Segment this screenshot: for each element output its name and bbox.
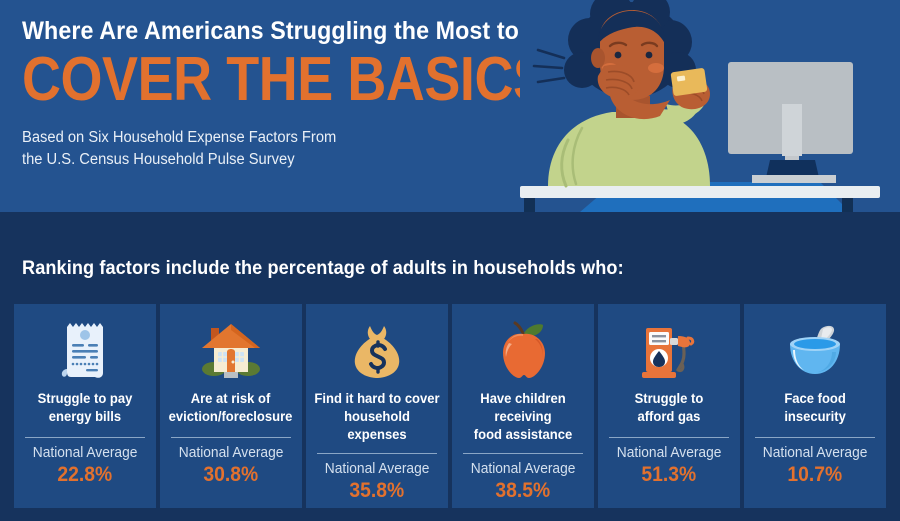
- national-average-value: 10.7%: [788, 463, 843, 487]
- national-average-label: National Average: [471, 461, 576, 477]
- factor-card-afford-gas[interactable]: Struggle to afford gas National Average …: [598, 304, 740, 508]
- card-divider: [609, 437, 728, 438]
- factor-card-label: Find it hard to cover household expenses: [311, 390, 443, 444]
- factor-card-label: Struggle to afford gas: [632, 390, 706, 428]
- factor-label-line2: energy bills: [49, 408, 121, 424]
- factor-label-line1: Have children receiving: [480, 390, 565, 424]
- card-divider: [317, 453, 436, 454]
- house-icon: [160, 314, 302, 388]
- factor-label-line1: Find it hard to cover: [314, 390, 439, 406]
- national-average-value: 51.3%: [642, 463, 697, 487]
- factor-label-line1: Are at risk of: [191, 390, 271, 406]
- factor-label-line1: Struggle to: [635, 390, 704, 406]
- factor-card-household-expenses[interactable]: Find it hard to cover household expenses…: [306, 304, 448, 508]
- infographic-root: Where Are Americans Struggling the Most …: [0, 0, 900, 521]
- card-divider: [25, 437, 144, 438]
- bowl-icon: [744, 314, 886, 388]
- factor-card-label: Struggle to pay energy bills: [35, 390, 135, 428]
- card-divider: [463, 453, 582, 454]
- page-subtitle-line1: Based on Six Household Expense Factors F…: [22, 127, 526, 149]
- page-subtitle-line2: the U.S. Census Household Pulse Survey: [22, 149, 526, 171]
- factor-label-line2: eviction/foreclosure: [169, 408, 293, 424]
- factor-card-label: Face food insecurity: [781, 390, 848, 428]
- factor-label-line1: Struggle to pay: [38, 390, 133, 406]
- national-average-label: National Average: [617, 445, 722, 461]
- national-average-value: 22.8%: [58, 463, 113, 487]
- factor-card-energy-bills[interactable]: Struggle to pay energy bills National Av…: [14, 304, 156, 508]
- factor-card-food-insecurity[interactable]: Face food insecurity National Average 10…: [744, 304, 886, 508]
- money-bag-icon: [306, 314, 448, 388]
- national-average-label: National Average: [763, 445, 868, 461]
- page-title-line2: COVER THE BASICS?: [22, 50, 483, 110]
- factor-label-line2: household expenses: [344, 408, 410, 442]
- page-title-line1: Where Are Americans Struggling the Most …: [22, 18, 515, 46]
- factor-label-line2: afford gas: [638, 408, 701, 424]
- card-divider: [755, 437, 874, 438]
- ranking-factors-heading: Ranking factors include the percentage o…: [22, 257, 624, 280]
- national-average-label: National Average: [33, 445, 138, 461]
- lower-section: Ranking factors include the percentage o…: [0, 212, 900, 521]
- national-average-label: National Average: [179, 445, 284, 461]
- factor-card-eviction-foreclosure[interactable]: Are at risk of eviction/foreclosure Nati…: [160, 304, 302, 508]
- factor-label-line2: insecurity: [784, 408, 846, 424]
- factor-card-child-food-assistance[interactable]: Have children receiving food assistance …: [452, 304, 594, 508]
- factor-card-label: Have children receiving food assistance: [457, 390, 589, 444]
- page-subtitle: Based on Six Household Expense Factors F…: [22, 127, 526, 172]
- apple-icon: [452, 314, 594, 388]
- header-text-block: Where Are Americans Struggling the Most …: [22, 18, 552, 172]
- national-average-value: 38.5%: [496, 479, 551, 503]
- receipt-icon: [14, 314, 156, 388]
- factor-label-line1: Face food: [784, 390, 845, 406]
- national-average-value: 35.8%: [350, 479, 405, 503]
- factor-label-line2: food assistance: [474, 426, 572, 442]
- gas-pump-icon: [598, 314, 740, 388]
- factor-card-label: Are at risk of eviction/foreclosure: [166, 390, 295, 428]
- factor-cards-row: Struggle to pay energy bills National Av…: [14, 304, 886, 508]
- header-band: Where Are Americans Struggling the Most …: [0, 0, 900, 212]
- national-average-value: 30.8%: [204, 463, 259, 487]
- national-average-label: National Average: [325, 461, 430, 477]
- card-divider: [171, 437, 290, 438]
- worried-woman-illustration: [520, 0, 900, 212]
